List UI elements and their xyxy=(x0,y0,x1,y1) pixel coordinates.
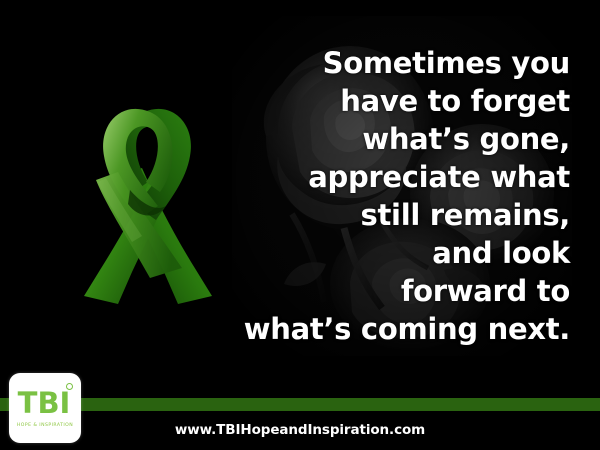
quote-line: still remains, xyxy=(240,196,570,234)
quote-line: have to forget xyxy=(240,82,570,120)
quote-text: Sometimes you have to forget what’s gone… xyxy=(240,44,570,348)
footer-url[interactable]: www.TBIHopeandInspiration.com xyxy=(0,422,600,438)
quote-line: what’s gone, xyxy=(240,120,570,158)
tbi-logo-mark: TBI xyxy=(18,388,73,418)
poster-canvas: Sometimes you have to forget what’s gone… xyxy=(0,0,600,450)
quote-line: appreciate what xyxy=(240,158,570,196)
green-divider-bar xyxy=(0,398,600,411)
green-awareness-ribbon xyxy=(72,72,222,312)
logo-circle-icon xyxy=(66,383,73,390)
quote-line: and look xyxy=(240,234,570,272)
quote-line: what’s coming next. xyxy=(240,310,570,348)
quote-line: forward to xyxy=(240,272,570,310)
quote-line: Sometimes you xyxy=(240,44,570,82)
